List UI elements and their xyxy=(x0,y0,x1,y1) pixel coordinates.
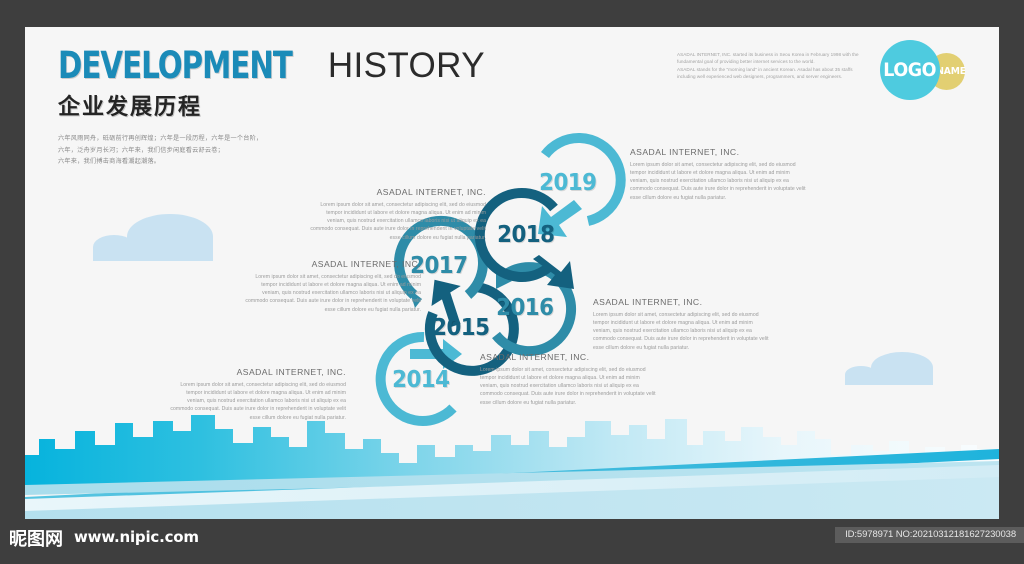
info-title: ASADAL INTERNET, INC. xyxy=(168,367,346,377)
footer-bar: 昵图网 www.nipic.com ID:5978971 NO:20210312… xyxy=(0,519,1024,564)
info-block-2014: ASADAL INTERNET, INC. Lorem ipsum dolor … xyxy=(168,367,346,422)
logo-main-circle: LOGO xyxy=(880,40,940,100)
info-title: ASADAL INTERNET, INC. xyxy=(243,259,421,269)
info-body: Lorem ipsum dolor sit amet, consectetur … xyxy=(168,381,346,422)
info-title: ASADAL INTERNET, INC. xyxy=(308,187,486,197)
logo-main-text: LOGO xyxy=(884,59,937,81)
info-body: Lorem ipsum dolor sit amet, consectetur … xyxy=(243,273,421,314)
info-block-2016: ASADAL INTERNET, INC. Lorem ipsum dolor … xyxy=(593,297,771,352)
timeline-rings-svg xyxy=(25,27,999,519)
info-block-2017: ASADAL INTERNET, INC. Lorem ipsum dolor … xyxy=(243,259,421,314)
info-body: Lorem ipsum dolor sit amet, consectetur … xyxy=(593,311,771,352)
asset-id-label: ID:5978971 NO:20210312181627230038 xyxy=(835,527,1024,543)
info-body: Lorem ipsum dolor sit amet, consectetur … xyxy=(480,366,658,407)
poster-frame: DEVELOPMENTHISTORY 企业发展历程 六年风雨同舟，砥砺前行再创辉… xyxy=(0,0,1024,564)
site-logo[interactable]: 昵图网 xyxy=(9,525,63,551)
site-url[interactable]: www.nipic.com xyxy=(74,528,199,546)
info-title: ASADAL INTERNET, INC. xyxy=(480,352,658,362)
logo-name-text: NAME xyxy=(936,66,966,77)
year-label-2015: 2015 xyxy=(432,315,489,341)
info-block-2015: ASADAL INTERNET, INC. Lorem ipsum dolor … xyxy=(480,352,658,407)
year-label-2014: 2014 xyxy=(392,367,449,393)
info-body: Lorem ipsum dolor sit amet, consectetur … xyxy=(630,161,808,202)
info-body: Lorem ipsum dolor sit amet, consectetur … xyxy=(308,201,486,242)
timeline-diagram: 2014 2015 2016 2017 2018 2019 ASADAL INT… xyxy=(25,27,999,519)
info-block-2019: ASADAL INTERNET, INC. Lorem ipsum dolor … xyxy=(630,147,808,202)
year-label-2018: 2018 xyxy=(497,222,554,248)
info-title: ASADAL INTERNET, INC. xyxy=(630,147,808,157)
poster-canvas: DEVELOPMENTHISTORY 企业发展历程 六年风雨同舟，砥砺前行再创辉… xyxy=(25,27,999,519)
info-title: ASADAL INTERNET, INC. xyxy=(593,297,771,307)
info-block-2018: ASADAL INTERNET, INC. Lorem ipsum dolor … xyxy=(308,187,486,242)
year-label-2016: 2016 xyxy=(496,295,553,321)
year-label-2019: 2019 xyxy=(539,170,596,196)
